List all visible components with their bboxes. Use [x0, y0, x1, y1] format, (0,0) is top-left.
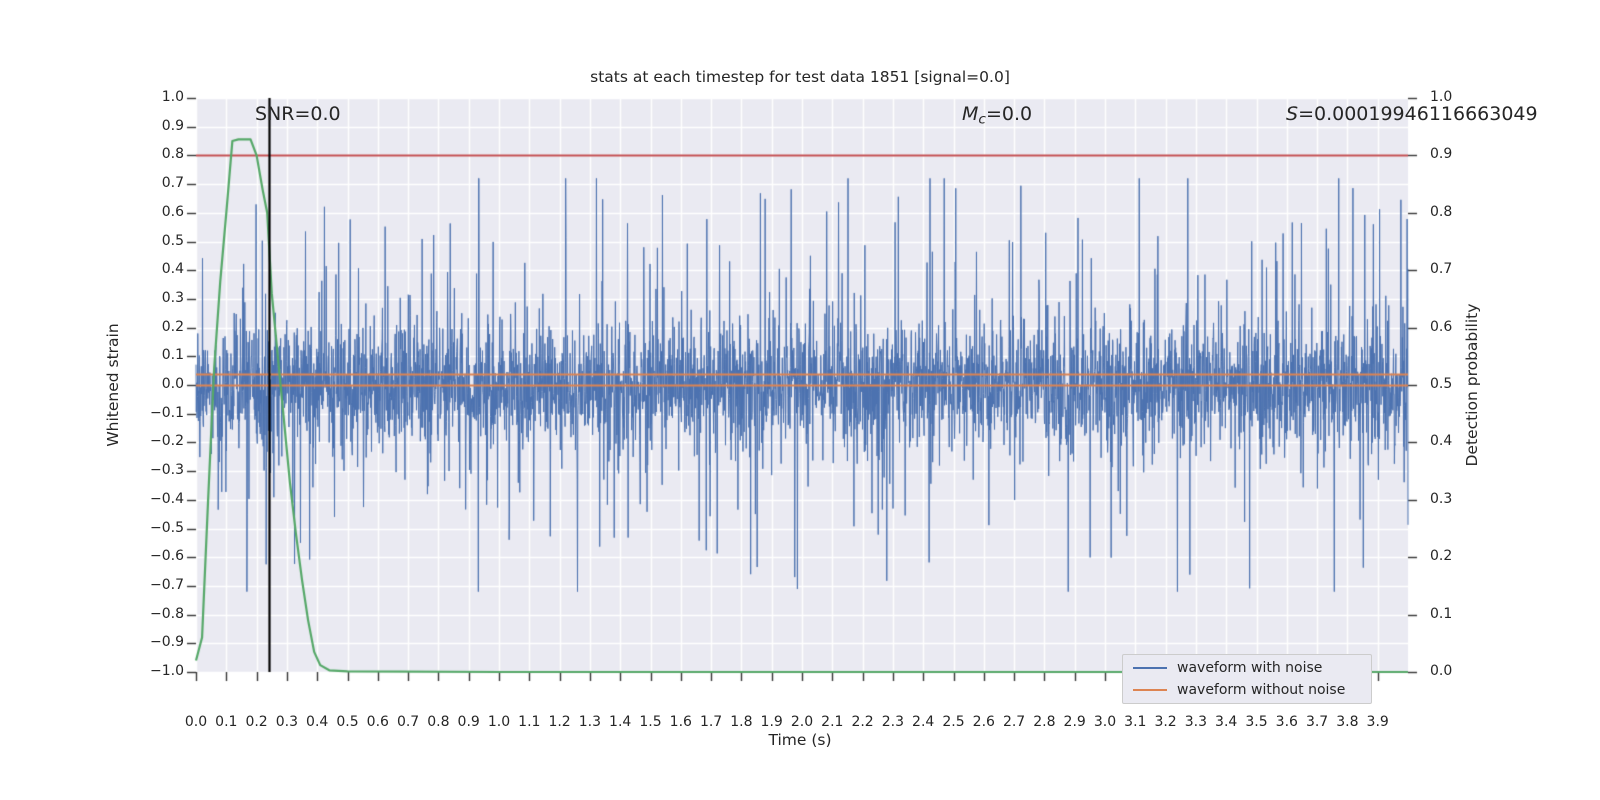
- x-axis-label: Time (s): [0, 731, 1600, 749]
- y-tick-label-left: 0.7: [126, 175, 184, 191]
- legend-item-0: waveform with noise: [1133, 657, 1322, 679]
- x-tick-label: 3.9: [1356, 714, 1400, 730]
- y-tick-label-left: −0.1: [126, 405, 184, 421]
- y-tick-label-left: −0.3: [126, 462, 184, 478]
- y-tick-label-left: 0.5: [126, 233, 184, 249]
- y-tick-label-left: 0.4: [126, 261, 184, 277]
- y-tick-label-right: 0.5: [1430, 376, 1490, 392]
- annotation-statistic-value: =0.00019946116663049: [1298, 103, 1538, 125]
- y-axis-label-left: Whitened strain: [104, 323, 122, 446]
- y-tick-label-left: −1.0: [126, 663, 184, 679]
- y-tick-label-right: 0.6: [1430, 319, 1490, 335]
- y-tick-label-left: 0.0: [126, 376, 184, 392]
- y-tick-label-left: 0.9: [126, 118, 184, 134]
- legend-swatch-waveform-with-noise: [1133, 667, 1167, 669]
- y-tick-label-right: 0.0: [1430, 663, 1490, 679]
- y-tick-label-right: 0.3: [1430, 491, 1490, 507]
- legend: waveform with noise waveform without noi…: [1122, 654, 1372, 704]
- y-tick-label-right: 1.0: [1430, 89, 1490, 105]
- annotation-chirp-mass-value: =0.0: [986, 103, 1032, 125]
- y-tick-label-right: 0.1: [1430, 606, 1490, 622]
- y-tick-label-left: −0.9: [126, 634, 184, 650]
- annotation-chirp-mass-symbol: M: [962, 103, 978, 125]
- y-tick-label-right: 0.9: [1430, 146, 1490, 162]
- y-tick-label-left: −0.2: [126, 433, 184, 449]
- annotation-chirp-mass: Mc=0.0: [962, 103, 1032, 127]
- y-tick-label-left: −0.5: [126, 520, 184, 536]
- figure-canvas-root: stats at each timestep for test data 185…: [0, 0, 1600, 800]
- y-tick-label-right: 0.4: [1430, 433, 1490, 449]
- y-tick-label-left: −0.6: [126, 548, 184, 564]
- legend-label-waveform-without-noise: waveform without noise: [1177, 682, 1345, 698]
- y-tick-label-left: −0.8: [126, 606, 184, 622]
- annotation-statistic: S=0.00019946116663049: [1286, 103, 1538, 125]
- y-tick-label-left: 0.8: [126, 146, 184, 162]
- legend-item-1: waveform without noise: [1133, 679, 1345, 701]
- page-title: stats at each timestep for test data 185…: [0, 68, 1600, 86]
- y-tick-label-right: 0.2: [1430, 548, 1490, 564]
- legend-label-waveform-with-noise: waveform with noise: [1177, 660, 1322, 676]
- y-tick-label-left: 1.0: [126, 89, 184, 105]
- y-tick-label-right: 0.8: [1430, 204, 1490, 220]
- y-tick-label-left: 0.3: [126, 290, 184, 306]
- y-tick-label-left: 0.1: [126, 347, 184, 363]
- annotation-snr: SNR=0.0: [255, 103, 341, 125]
- y-tick-label-left: 0.2: [126, 319, 184, 335]
- y-tick-label-left: −0.7: [126, 577, 184, 593]
- annotation-chirp-mass-subscript: c: [978, 111, 986, 127]
- y-tick-label-left: −0.4: [126, 491, 184, 507]
- y-tick-label-left: 0.6: [126, 204, 184, 220]
- annotation-statistic-symbol: S: [1286, 103, 1298, 125]
- legend-swatch-waveform-without-noise: [1133, 689, 1167, 691]
- y-tick-label-right: 0.7: [1430, 261, 1490, 277]
